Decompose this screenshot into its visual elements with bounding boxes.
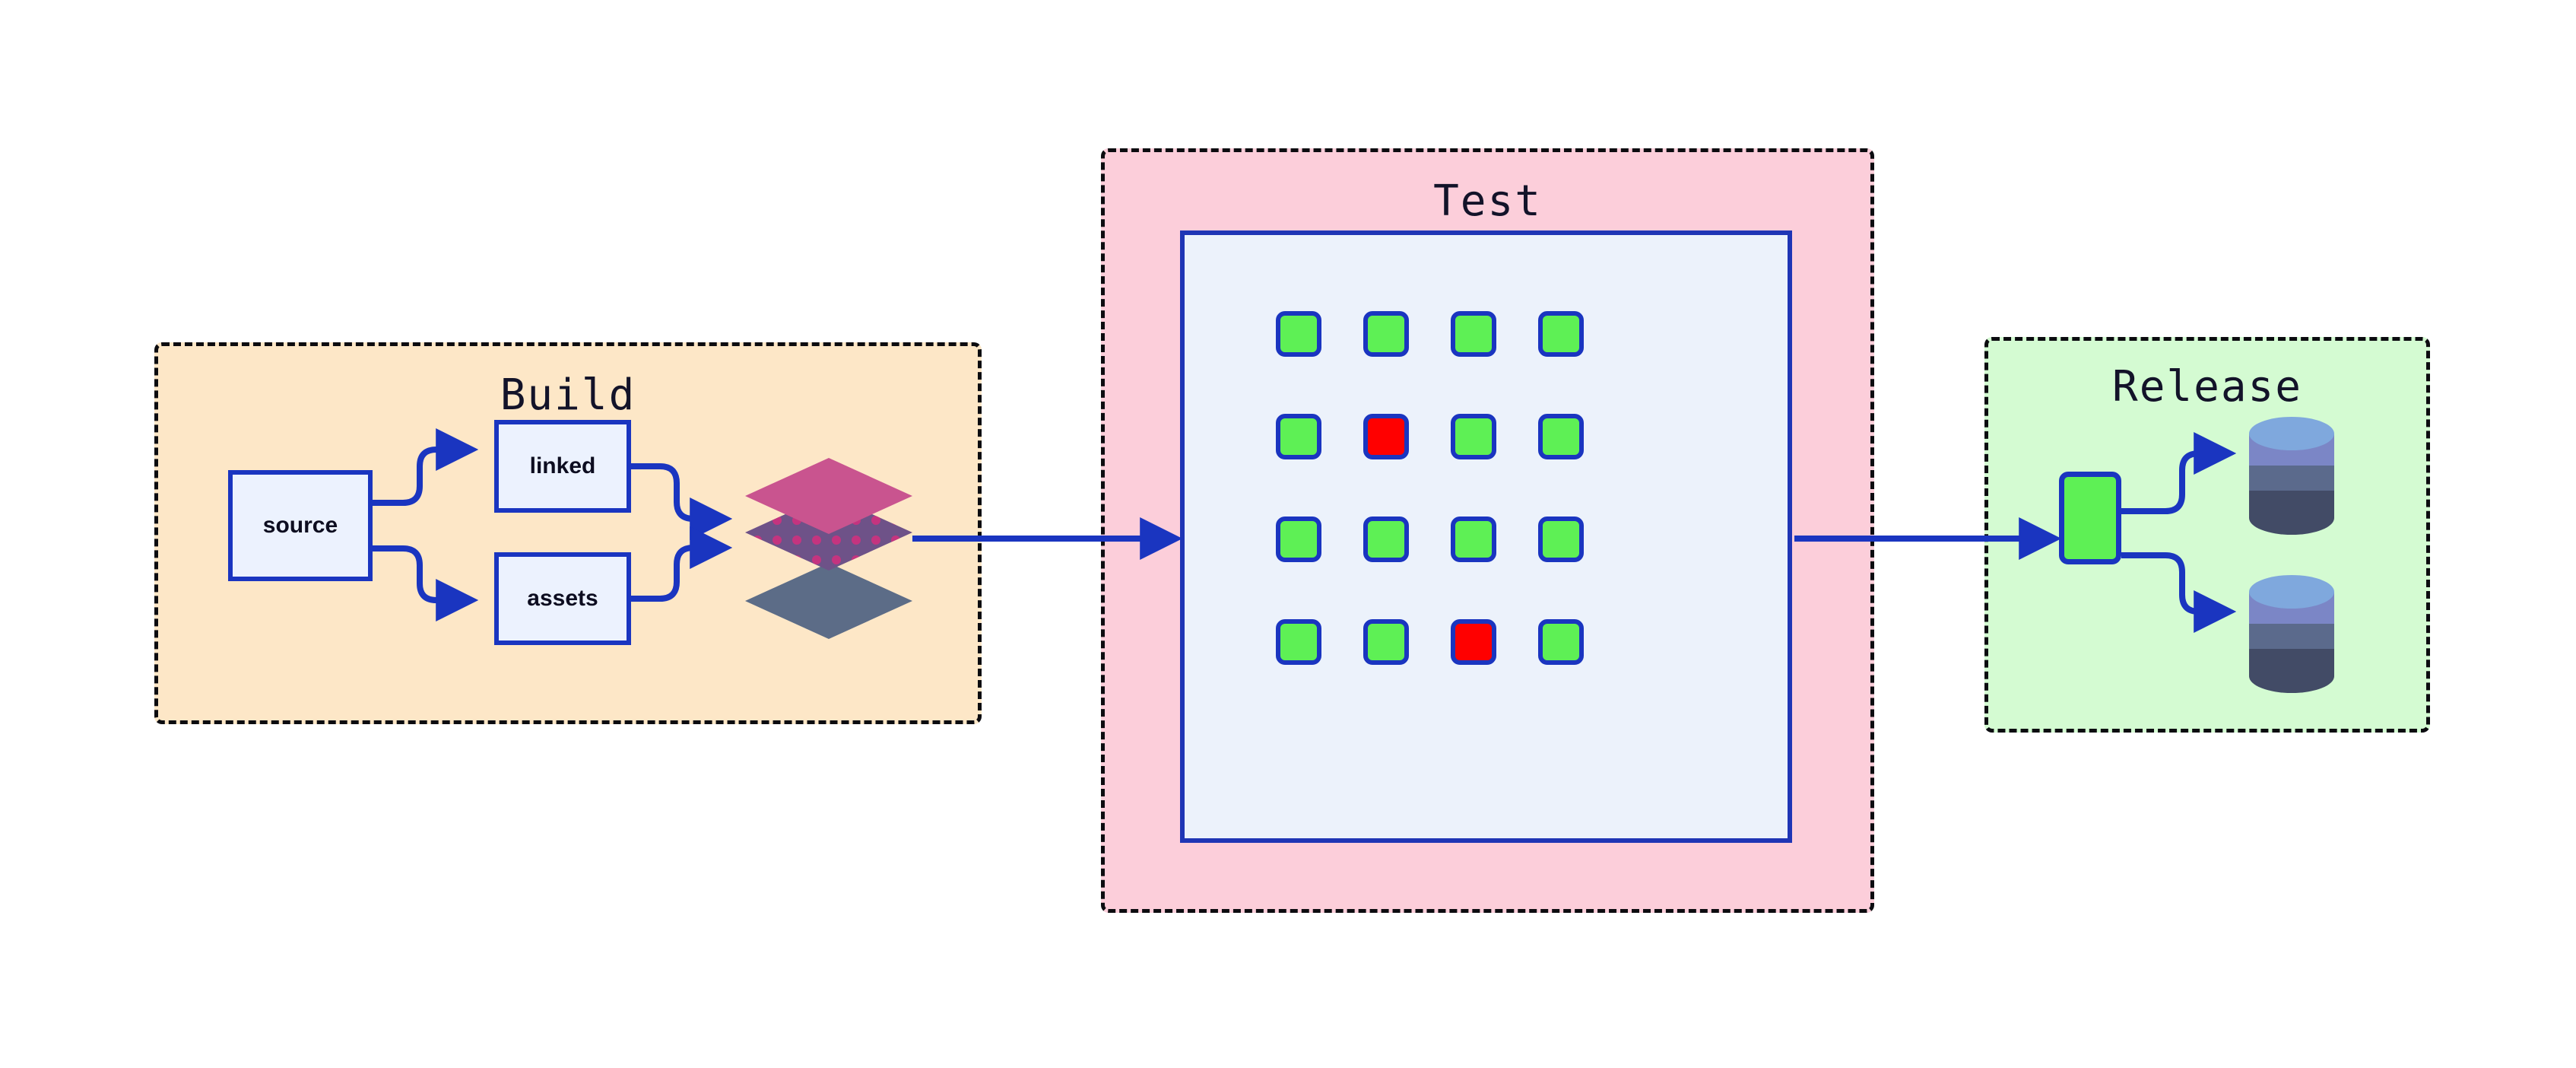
node-assets[interactable]: assets bbox=[494, 552, 631, 645]
test-cell-4-1[interactable] bbox=[1276, 619, 1321, 665]
test-cell-3-2[interactable] bbox=[1363, 517, 1409, 562]
test-cell-3-3[interactable] bbox=[1451, 517, 1496, 562]
node-release-artifact[interactable] bbox=[2059, 472, 2121, 564]
node-linked-label: linked bbox=[530, 453, 596, 479]
test-cell-1-4[interactable] bbox=[1538, 311, 1584, 357]
diagram-canvas: Build source linked assets Test Release bbox=[0, 0, 2576, 1068]
test-cell-4-2[interactable] bbox=[1363, 619, 1409, 665]
test-cell-2-4[interactable] bbox=[1538, 414, 1584, 459]
test-cell-2-2[interactable] bbox=[1363, 414, 1409, 459]
test-cell-2-3[interactable] bbox=[1451, 414, 1496, 459]
stage-test-title: Test bbox=[1105, 176, 1870, 226]
node-source[interactable]: source bbox=[228, 470, 373, 581]
stage-release-title: Release bbox=[1988, 362, 2426, 412]
test-cell-4-4[interactable] bbox=[1538, 619, 1584, 665]
test-cell-1-1[interactable] bbox=[1276, 311, 1321, 357]
stage-release[interactable]: Release bbox=[1984, 337, 2430, 733]
node-assets-label: assets bbox=[527, 586, 598, 612]
test-cell-1-2[interactable] bbox=[1363, 311, 1409, 357]
test-cell-3-4[interactable] bbox=[1538, 517, 1584, 562]
test-cell-3-1[interactable] bbox=[1276, 517, 1321, 562]
test-results-grid bbox=[1276, 311, 1584, 665]
test-results-panel bbox=[1180, 230, 1792, 843]
node-source-label: source bbox=[263, 513, 338, 539]
test-cell-1-3[interactable] bbox=[1451, 311, 1496, 357]
node-linked[interactable]: linked bbox=[494, 420, 631, 513]
stage-build-title: Build bbox=[158, 370, 978, 420]
test-cell-2-1[interactable] bbox=[1276, 414, 1321, 459]
test-cell-4-3[interactable] bbox=[1451, 619, 1496, 665]
